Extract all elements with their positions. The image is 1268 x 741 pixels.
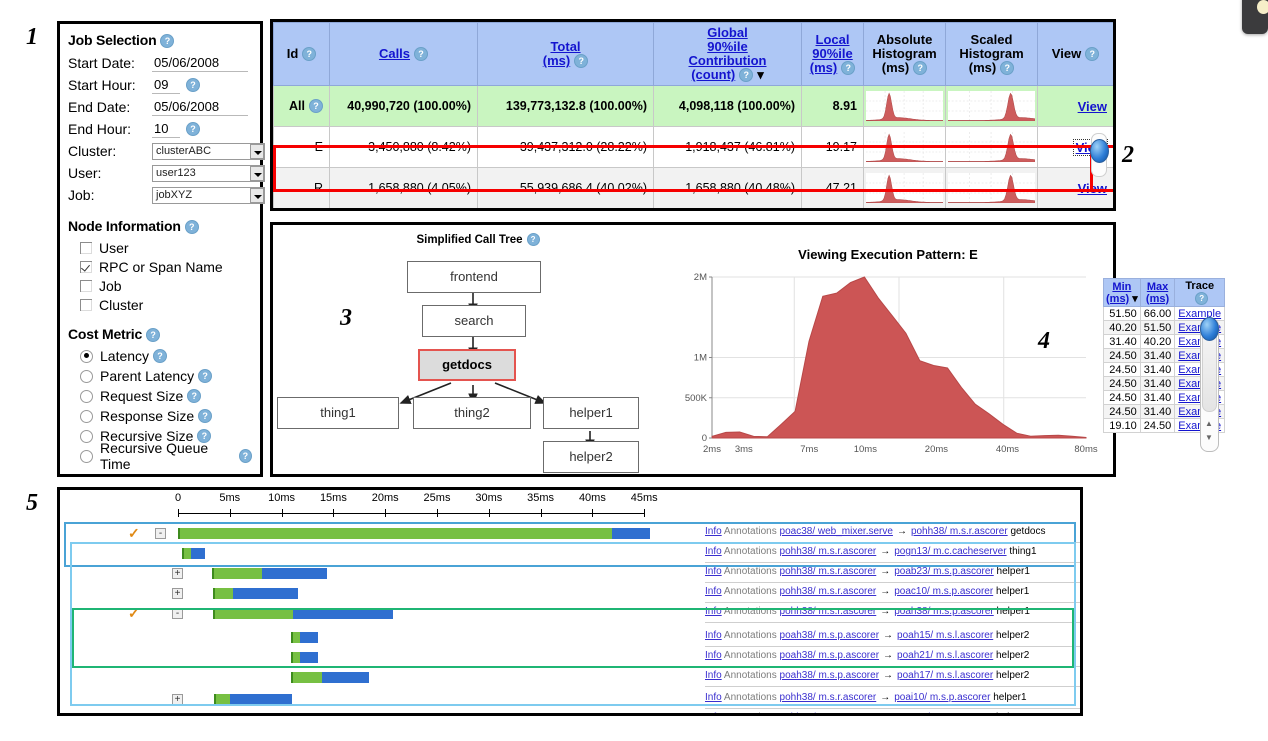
cell-value: 4,098,118 (100.00%) xyxy=(679,99,795,113)
sort-desc-icon[interactable]: ▾ xyxy=(757,67,764,82)
x-tick-label: 20ms xyxy=(925,444,948,455)
field-label: Start Date: xyxy=(68,55,152,71)
field-input[interactable]: 09 xyxy=(152,77,180,94)
trace-cell: 24.50 xyxy=(1104,391,1141,405)
checkbox[interactable] xyxy=(80,261,92,273)
column-header-line[interactable]: (count) xyxy=(691,67,735,82)
marker-5: 5 xyxy=(26,490,38,517)
calltree-node-helper2[interactable]: helper2 xyxy=(543,441,639,473)
trace-cell: 31.40 xyxy=(1140,377,1175,391)
y-tick-label: 500K xyxy=(685,393,708,404)
trace-column-header[interactable]: Trace? xyxy=(1175,279,1225,307)
column-header-line: (ms) xyxy=(882,60,909,75)
field-input[interactable]: 10 xyxy=(152,121,180,138)
help-icon[interactable]: ? xyxy=(414,47,428,61)
cost-metric-item[interactable]: Latency? xyxy=(80,346,252,366)
help-icon[interactable]: ? xyxy=(1000,61,1014,75)
ruler-axis xyxy=(178,513,644,514)
help-icon[interactable]: ? xyxy=(309,99,323,113)
trace-cell: 40.20 xyxy=(1104,321,1141,335)
help-icon[interactable]: ? xyxy=(160,34,174,48)
radio-button[interactable] xyxy=(80,390,93,403)
node-info-item[interactable]: Job xyxy=(80,276,252,295)
field-label: Cluster: xyxy=(68,143,152,159)
ruler-tick-label: 30ms xyxy=(475,492,502,504)
column-header[interactable]: AbsoluteHistogram(ms)? xyxy=(864,23,946,86)
job-selection-title-text: Job Selection xyxy=(68,32,156,48)
help-icon[interactable]: ? xyxy=(187,389,201,403)
corner-dot-icon xyxy=(1257,0,1268,14)
trace-column-header[interactable]: Max(ms) xyxy=(1140,279,1175,307)
trace-cell: 24.50 xyxy=(1104,405,1141,419)
node-info-label: User xyxy=(99,240,129,256)
job-selection-panel: Job Selection? Start Date:05/06/2008Star… xyxy=(57,21,263,477)
column-header-line[interactable]: 90%ile xyxy=(707,39,747,54)
view-cell: View xyxy=(1038,86,1114,127)
chart-svg: 2ms3ms7ms10ms20ms40ms80ms 0500K1M2M xyxy=(668,269,1098,464)
x-tick-label: 3ms xyxy=(735,444,753,455)
cost-metric-label: Parent Latency xyxy=(100,368,194,384)
table-cell: R xyxy=(274,168,330,209)
job-field-row: Job:jobXYZ xyxy=(68,184,252,206)
table-header-row: Id?Calls?Total(ms)?Global90%ileContribut… xyxy=(274,23,1114,86)
ruler-tick xyxy=(541,509,542,517)
row-highlight-top xyxy=(273,145,1113,148)
column-header[interactable]: View? xyxy=(1038,23,1114,86)
job-field-row: Cluster:clusterABC xyxy=(68,140,252,162)
table-cell: 55,939,686.4 (40.02%) xyxy=(478,168,654,209)
cell-value: All xyxy=(289,99,305,113)
sort-desc-icon[interactable]: ▾ xyxy=(1132,293,1138,305)
marker-4: 4 xyxy=(1038,328,1050,355)
job-selection-title: Job Selection? xyxy=(68,32,252,48)
scroll-down-arrow-icon[interactable]: ▼ xyxy=(1205,433,1213,442)
expand-toggle[interactable]: + xyxy=(172,714,183,716)
timeline-group-helper2 xyxy=(72,608,1074,668)
field-select[interactable]: clusterABC xyxy=(152,143,265,160)
trace-cell: 31.40 xyxy=(1140,391,1175,405)
arrow-icon: → xyxy=(880,712,890,716)
select-value: user123 xyxy=(152,165,265,182)
column-header[interactable]: Calls? xyxy=(330,23,478,86)
performance-table: Id?Calls?Total(ms)?Global90%ileContribut… xyxy=(273,22,1114,209)
job-field-row: End Hour:10? xyxy=(68,118,252,140)
x-tick-label: 2ms xyxy=(703,444,721,455)
ruler-tick xyxy=(644,509,645,517)
x-tick-label: 7ms xyxy=(800,444,818,455)
marker-1: 1 xyxy=(26,24,38,51)
x-tick-label: 10ms xyxy=(854,444,877,455)
table-cell: 139,773,132.8 (100.00%) xyxy=(478,86,654,127)
execution-pattern-chart: Viewing Execution Pattern: E 2ms3ms7ms10… xyxy=(668,237,1108,477)
help-icon[interactable]: ? xyxy=(239,449,252,463)
trace-cell: 31.40 xyxy=(1104,335,1141,349)
info-link[interactable]: Info xyxy=(705,712,722,716)
trace-table: Min(ms)▾Max(ms)Trace? 51.5066.00Example4… xyxy=(1103,278,1213,433)
calltree-node-thing2[interactable]: thing2 xyxy=(413,397,531,429)
calltree-node-frontend[interactable]: frontend xyxy=(407,261,541,293)
trace-cell: 24.50 xyxy=(1104,349,1141,363)
column-header-line: Absolute xyxy=(877,32,933,47)
bar-segment-blue[interactable] xyxy=(238,714,313,716)
help-icon[interactable]: ? xyxy=(153,349,167,363)
field-label: User: xyxy=(68,165,152,181)
table-cell: 1,658,880 (4.05%) xyxy=(330,168,478,209)
table-row[interactable]: All?40,990,720 (100.00%)139,773,132.8 (1… xyxy=(274,86,1114,127)
ruler-tick xyxy=(437,509,438,517)
column-header-line: Scaled xyxy=(971,32,1013,47)
field-select[interactable]: user123 xyxy=(152,165,265,182)
chevron-down-icon[interactable] xyxy=(250,166,264,181)
trace-timeline-panel: 05ms10ms15ms20ms25ms30ms35ms40ms45ms ✓-I… xyxy=(57,487,1083,716)
cost-metric-list: Latency?Parent Latency?Request Size?Resp… xyxy=(68,346,252,466)
help-icon[interactable]: ? xyxy=(185,220,199,234)
node-info-item[interactable]: Cluster xyxy=(80,295,252,314)
cost-metric-title-text: Cost Metric xyxy=(68,326,142,342)
trace-column-header[interactable]: Min(ms)▾ xyxy=(1104,279,1141,307)
bar-segment-green[interactable] xyxy=(215,714,250,716)
annotation-separator xyxy=(705,708,1083,709)
trace-cell: 31.40 xyxy=(1140,405,1175,419)
ruler-tick-label: 20ms xyxy=(372,492,399,504)
x-tick-label: 40ms xyxy=(996,444,1019,455)
ruler-tick xyxy=(282,509,283,517)
node-information-title-text: Node Information xyxy=(68,218,181,234)
ruler-tick xyxy=(592,509,593,517)
field-input[interactable]: 05/06/2008 xyxy=(152,99,248,116)
ruler-tick-label: 40ms xyxy=(579,492,606,504)
column-header-line[interactable]: Global xyxy=(707,25,747,40)
ruler-tick-label: 5ms xyxy=(219,492,240,504)
cell-value: 40,990,720 (100.00%) xyxy=(347,99,471,113)
y-tick-label: 2M xyxy=(694,272,707,283)
trace-cell: 24.50 xyxy=(1140,419,1175,433)
trace-column-label[interactable]: Max xyxy=(1147,281,1168,293)
chevron-down-icon[interactable] xyxy=(250,188,264,203)
calltree-node-getdocs[interactable]: getdocs xyxy=(418,349,516,381)
help-icon[interactable]: ? xyxy=(186,122,200,136)
field-input[interactable]: 05/06/2008 xyxy=(152,55,248,72)
radio-button[interactable] xyxy=(80,370,93,383)
help-icon[interactable]: ? xyxy=(186,78,200,92)
table-cell: 8.91 xyxy=(802,86,864,127)
column-header-line: (ms) xyxy=(969,60,996,75)
job-field-row: Start Date:05/06/2008 xyxy=(68,52,252,74)
table-cell: 47.21 xyxy=(802,168,864,209)
absolute-histogram-cell xyxy=(864,168,946,209)
ruler-tick xyxy=(230,509,231,517)
scroll-up-arrow-icon[interactable]: ▲ xyxy=(1205,419,1213,428)
table-cell: 40,990,720 (100.00%) xyxy=(330,86,478,127)
cost-metric-label: Request Size xyxy=(100,388,183,404)
column-header[interactable]: Local90%ile(ms)? xyxy=(802,23,864,86)
column-header[interactable]: ScaledHistogram(ms)? xyxy=(946,23,1038,86)
job-field-row: User:user123 xyxy=(68,162,252,184)
help-icon[interactable]: ? xyxy=(574,54,588,68)
table-cell: 1,658,880 (40.48%) xyxy=(654,168,802,209)
help-icon[interactable]: ? xyxy=(841,61,855,75)
table-scroll-knob[interactable] xyxy=(1088,133,1108,175)
timeline-row[interactable]: +Info Annotations pohh38/ m.s.r.ascorer→… xyxy=(60,710,1080,716)
calltree-node-thing1[interactable]: thing1 xyxy=(277,397,399,429)
column-header[interactable]: Id? xyxy=(274,23,330,86)
ruler-tick xyxy=(333,509,334,517)
cost-metric-item[interactable]: Recursive Queue Time? xyxy=(80,446,252,466)
help-icon[interactable]: ? xyxy=(527,233,540,246)
trace-example-cell: Example xyxy=(1175,307,1225,321)
trace-cell: 31.40 xyxy=(1140,349,1175,363)
cell-value: 47.21 xyxy=(826,181,857,195)
y-tick-label: 1M xyxy=(694,353,707,364)
trace-cell: 51.50 xyxy=(1140,321,1175,335)
table-cell: All? xyxy=(274,86,330,127)
cost-metric-item[interactable]: Parent Latency? xyxy=(80,366,252,386)
column-header-line: Id xyxy=(287,46,299,61)
select-value: jobXYZ xyxy=(152,187,265,204)
field-label: End Hour: xyxy=(68,121,152,137)
node-information-title: Node Information? xyxy=(68,218,252,234)
job-field-row: End Date:05/06/2008 xyxy=(68,96,252,118)
scroll-knob[interactable] xyxy=(1200,317,1219,341)
trace-column-label[interactable]: Min xyxy=(1112,281,1131,293)
trace-column-sub[interactable]: (ms) xyxy=(1106,293,1129,305)
cost-metric-item[interactable]: Request Size? xyxy=(80,386,252,406)
help-icon[interactable]: ? xyxy=(198,369,212,383)
help-icon[interactable]: ? xyxy=(302,47,316,61)
trace-cell: 40.20 xyxy=(1140,335,1175,349)
help-icon[interactable]: ? xyxy=(1195,292,1208,305)
node-info-label: Job xyxy=(99,278,122,294)
ruler-tick xyxy=(178,509,179,517)
node-info-label: Cluster xyxy=(99,297,143,313)
table-cell: 4,098,118 (100.00%) xyxy=(654,86,802,127)
annotations-label: Annotations xyxy=(724,712,777,716)
marker-3: 3 xyxy=(340,305,352,332)
column-header-line[interactable]: (ms) xyxy=(810,60,837,75)
field-label: Job: xyxy=(68,187,152,203)
cost-metric-title: Cost Metric? xyxy=(68,326,252,342)
ruler-tick-label: 0 xyxy=(175,492,181,504)
view-link[interactable]: View xyxy=(1078,99,1107,114)
radio-button[interactable] xyxy=(80,350,93,363)
x-tick-label: 80ms xyxy=(1074,444,1097,455)
cell-value: R xyxy=(314,181,323,195)
field-label: Start Hour: xyxy=(68,77,152,93)
call-tree-title-text: Simplified Call Tree xyxy=(416,234,522,246)
trace-table-header: Min(ms)▾Max(ms)Trace? xyxy=(1104,279,1225,307)
job-fields: Start Date:05/06/2008Start Hour:09?End D… xyxy=(68,52,252,206)
row-highlight-bottom xyxy=(273,189,1113,192)
trace-example-link[interactable]: Example xyxy=(1178,308,1221,320)
annotation-row: Info Annotations pohh38/ m.s.r.ascorer→p… xyxy=(705,712,1029,716)
ruler-tick-label: 10ms xyxy=(268,492,295,504)
checkbox[interactable] xyxy=(80,299,92,311)
column-header-line[interactable]: (ms) xyxy=(543,53,570,68)
node-info-label: RPC or Span Name xyxy=(99,259,223,275)
cost-metric-label: Recursive Queue Time xyxy=(100,440,235,472)
ruler-tick xyxy=(385,509,386,517)
row-highlight-left xyxy=(273,145,276,192)
trace-cell: 24.50 xyxy=(1104,363,1141,377)
cell-value: 139,773,132.8 (100.00%) xyxy=(506,99,647,113)
cell-value: 55,939,686.4 (40.02%) xyxy=(520,181,647,195)
bar-start-tick xyxy=(213,714,215,716)
ruler-tick-label: 45ms xyxy=(631,492,658,504)
help-icon[interactable]: ? xyxy=(146,328,160,342)
absolute-histogram-cell xyxy=(864,86,946,127)
radio-button[interactable] xyxy=(80,450,93,463)
column-header-line[interactable]: Local xyxy=(816,32,850,47)
help-icon[interactable]: ? xyxy=(739,68,753,82)
corner-widget[interactable] xyxy=(1242,0,1268,34)
checkbox[interactable] xyxy=(80,242,92,254)
column-header-line: View xyxy=(1052,46,1081,61)
cost-metric-item[interactable]: Response Size? xyxy=(80,406,252,426)
column-header-line[interactable]: Contribution xyxy=(689,53,767,68)
column-header-line: Histogram xyxy=(872,46,936,61)
help-icon[interactable]: ? xyxy=(1085,47,1099,61)
ruler-tick xyxy=(489,509,490,517)
call-tree-title: Simplified Call Tree? xyxy=(333,233,623,246)
trace-cell: 19.10 xyxy=(1104,419,1141,433)
marker-2: 2 xyxy=(1122,142,1134,169)
node-information-list: UserRPC or Span NameJobCluster xyxy=(68,238,252,314)
help-icon[interactable]: ? xyxy=(913,61,927,75)
trace-column-sub[interactable]: (ms) xyxy=(1146,293,1169,305)
y-tick-label: 0 xyxy=(702,433,707,444)
source-link[interactable]: pohh38/ m.s.r.ascorer xyxy=(780,712,877,716)
column-header-line: Histogram xyxy=(959,46,1023,61)
select-value: clusterABC xyxy=(152,143,265,160)
checkbox[interactable] xyxy=(80,280,92,292)
timeline-ruler: 05ms10ms15ms20ms25ms30ms35ms40ms45ms xyxy=(60,492,1080,520)
cell-value: 1,658,880 (4.05%) xyxy=(368,181,471,195)
trace-cell: 24.50 xyxy=(1104,377,1141,391)
calltree-and-chart-panel: Simplified Call Tree? frontend search ge… xyxy=(270,222,1116,477)
trace-table-scrollbar[interactable]: ▲ ▼ xyxy=(1200,318,1219,452)
cost-metric-label: Response Size xyxy=(100,408,194,424)
ruler-tick-label: 15ms xyxy=(320,492,347,504)
field-label: End Date: xyxy=(68,99,152,115)
column-header-line[interactable]: 90%ile xyxy=(812,46,852,61)
calltree-node-helper1[interactable]: helper1 xyxy=(543,397,639,429)
ruler-tick-label: 25ms xyxy=(424,492,451,504)
node-info-item[interactable]: User xyxy=(80,238,252,257)
cell-value: 1,658,880 (40.48%) xyxy=(685,181,795,195)
column-header-line[interactable]: Total xyxy=(550,39,580,54)
chart-title: Viewing Execution Pattern: E xyxy=(668,247,1108,262)
performance-table-panel: Id?Calls?Total(ms)?Global90%ileContribut… xyxy=(270,19,1116,211)
trace-cell: 51.50 xyxy=(1104,307,1141,321)
ruler-tick-label: 35ms xyxy=(527,492,554,504)
trace-cell: 66.00 xyxy=(1140,307,1175,321)
column-header-line[interactable]: Calls xyxy=(379,46,410,61)
table-row[interactable]: R1,658,880 (4.05%)55,939,686.4 (40.02%)1… xyxy=(274,168,1114,209)
trace-cell: 31.40 xyxy=(1140,363,1175,377)
radio-button[interactable] xyxy=(80,410,93,423)
target-link[interactable]: poac22/ m.s.p.ascorer xyxy=(894,712,993,716)
scroll-thumb[interactable] xyxy=(1090,139,1109,163)
help-icon[interactable]: ? xyxy=(198,409,212,423)
column-header[interactable]: Total(ms)? xyxy=(478,23,654,86)
span-name: helper1 xyxy=(996,712,1029,716)
column-header[interactable]: Global90%ileContribution(count)?▾ xyxy=(654,23,802,86)
calltree-node-search[interactable]: search xyxy=(422,305,526,337)
cell-value: 8.91 xyxy=(833,99,857,113)
scaled-histogram-cell xyxy=(946,168,1038,209)
job-field-row: Start Hour:09? xyxy=(68,74,252,96)
node-info-item[interactable]: RPC or Span Name xyxy=(80,257,252,276)
field-select[interactable]: jobXYZ xyxy=(152,187,265,204)
trace-column-label: Trace xyxy=(1185,280,1214,292)
scaled-histogram-cell xyxy=(946,86,1038,127)
cost-metric-label: Latency xyxy=(100,348,149,364)
chevron-down-icon[interactable] xyxy=(250,144,264,159)
radio-button[interactable] xyxy=(80,430,93,443)
